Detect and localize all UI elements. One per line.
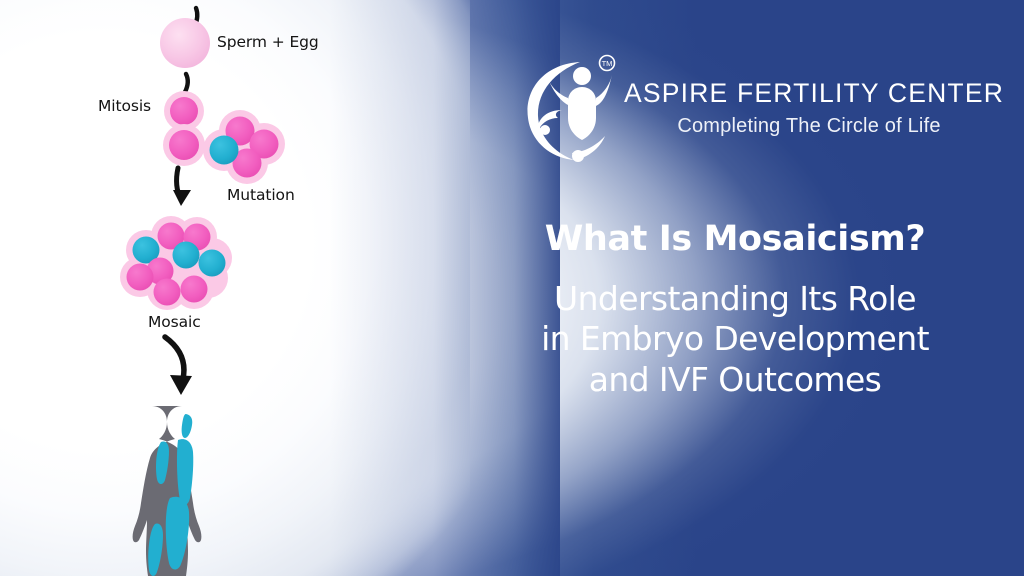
mosaicism-diagram: Sperm + Egg Mitosis Mutation Mosaic [0, 0, 470, 576]
headline-block: What Is Mosaicism? Understanding Its Rol… [452, 222, 1018, 400]
curved-arrow-icon [185, 74, 188, 92]
label-mutation: Mutation [227, 186, 295, 204]
brand-name: ASPIRE FERTILITY CENTER [624, 78, 994, 109]
dividing-cells-icon [163, 91, 205, 166]
label-sperm-egg: Sperm + Egg [217, 33, 319, 51]
headline-title: What Is Mosaicism? [452, 222, 1018, 257]
headline-subline-1: Understanding Its Role [452, 279, 1018, 319]
slide-canvas: Sperm + Egg Mitosis Mutation Mosaic TM A… [0, 0, 1024, 576]
label-mitosis: Mitosis [98, 97, 151, 115]
aspire-fertility-logo-icon: TM [520, 52, 616, 164]
diagram-svg [0, 0, 470, 576]
human-body-silhouette-icon [133, 406, 202, 576]
brand-tagline: Completing The Circle of Life [624, 115, 994, 138]
zygote-cell-icon [160, 18, 210, 68]
mutation-cell-cluster-icon [203, 110, 285, 184]
curved-arrow-down-icon [173, 168, 191, 206]
trademark-icon: TM [600, 56, 615, 71]
brand-lockup: TM ASPIRE FERTILITY CENTER Completing Th… [520, 52, 990, 167]
label-mosaic: Mosaic [148, 313, 201, 331]
curved-arrow-down-icon [165, 337, 192, 395]
headline-subline-3: and IVF Outcomes [452, 360, 1018, 400]
headline-subline-2: in Embryo Development [452, 319, 1018, 359]
svg-text:TM: TM [602, 59, 613, 68]
mosaic-cell-cluster-icon [120, 216, 232, 310]
